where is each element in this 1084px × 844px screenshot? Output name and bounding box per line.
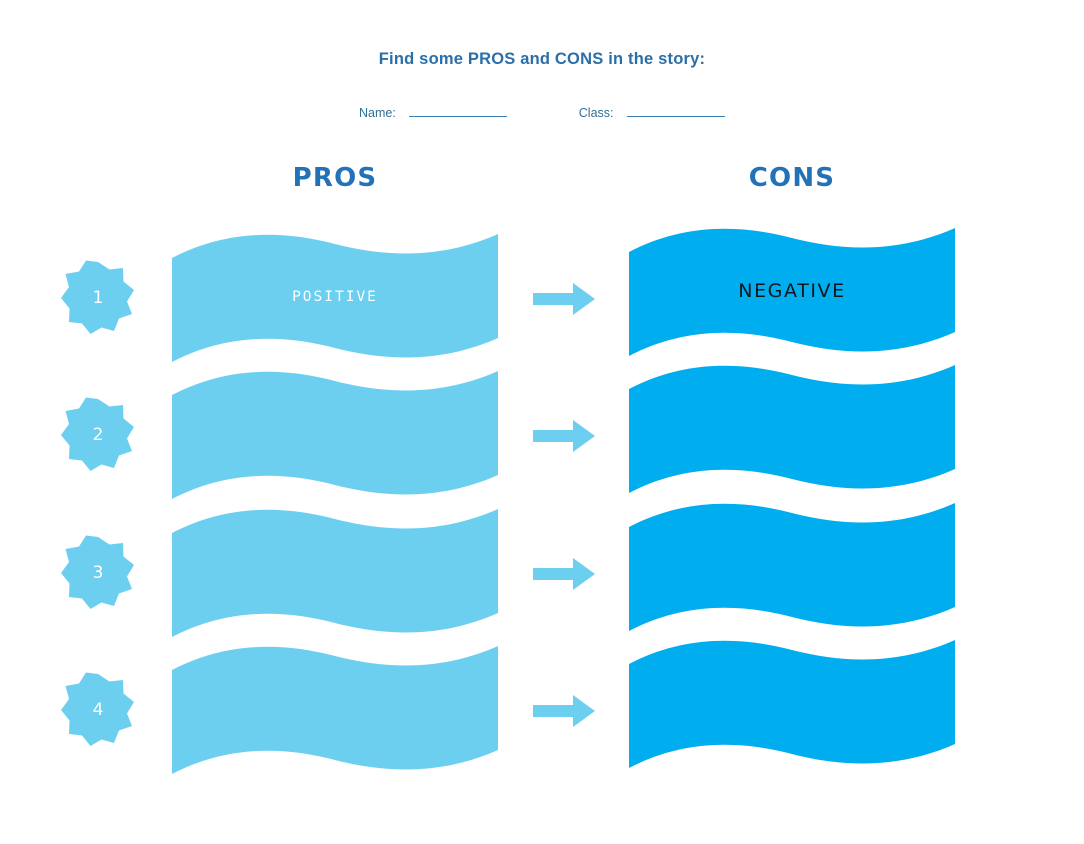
column-heading-cons: CONS [629,163,955,193]
row-number-label: 2 [60,397,136,473]
worksheet-row: 2 [0,371,1084,501]
cons-banner-4[interactable] [629,640,955,770]
arrow-right-glyph [533,419,595,453]
wave-ribbon-shape [172,371,498,501]
cons-banner-3[interactable] [629,503,955,633]
row-number-badge: 4 [60,672,136,748]
arrow-right-icon [533,282,595,316]
wave-ribbon-shape [629,503,955,633]
cons-banner-1[interactable]: NEGATIVE [629,228,955,358]
class-field-label: Class: [579,106,614,120]
wave-ribbon-shape [629,228,955,358]
wave-ribbon-shape [172,509,498,639]
name-field-label: Name: [359,106,396,120]
wave-ribbon-shape [172,234,498,364]
pros-banner-1[interactable]: POSITIVE [172,234,498,364]
page-title: Find some PROS and CONS in the story: [0,50,1084,69]
arrow-right-glyph [533,694,595,728]
wave-ribbon-shape [172,646,498,776]
row-number-label: 3 [60,535,136,611]
arrow-right-icon [533,557,595,591]
class-input[interactable] [627,103,725,117]
row-number-badge: 3 [60,535,136,611]
pros-banner-4[interactable] [172,646,498,776]
wave-ribbon-shape [629,640,955,770]
student-info-row: Name: Class: [0,103,1084,120]
row-number-label: 1 [60,260,136,336]
pros-banner-3[interactable] [172,509,498,639]
pros-banner-2[interactable] [172,371,498,501]
worksheet-row: 3 [0,509,1084,639]
arrow-right-glyph [533,282,595,316]
row-number-label: 4 [60,672,136,748]
name-input[interactable] [409,103,507,117]
class-field-group: Class: [579,103,725,120]
worksheet-row: 1 POSITIVE NEGATIVE [0,234,1084,364]
wave-ribbon-shape [629,365,955,495]
worksheet-canvas: Find some PROS and CONS in the story: Na… [0,0,1084,844]
row-number-badge: 1 [60,260,136,336]
worksheet-row: 4 [0,646,1084,776]
arrow-right-icon [533,694,595,728]
cons-banner-2[interactable] [629,365,955,495]
column-heading-pros: PROS [172,163,498,193]
name-field-group: Name: [359,103,507,120]
arrow-right-glyph [533,557,595,591]
row-number-badge: 2 [60,397,136,473]
arrow-right-icon [533,419,595,453]
